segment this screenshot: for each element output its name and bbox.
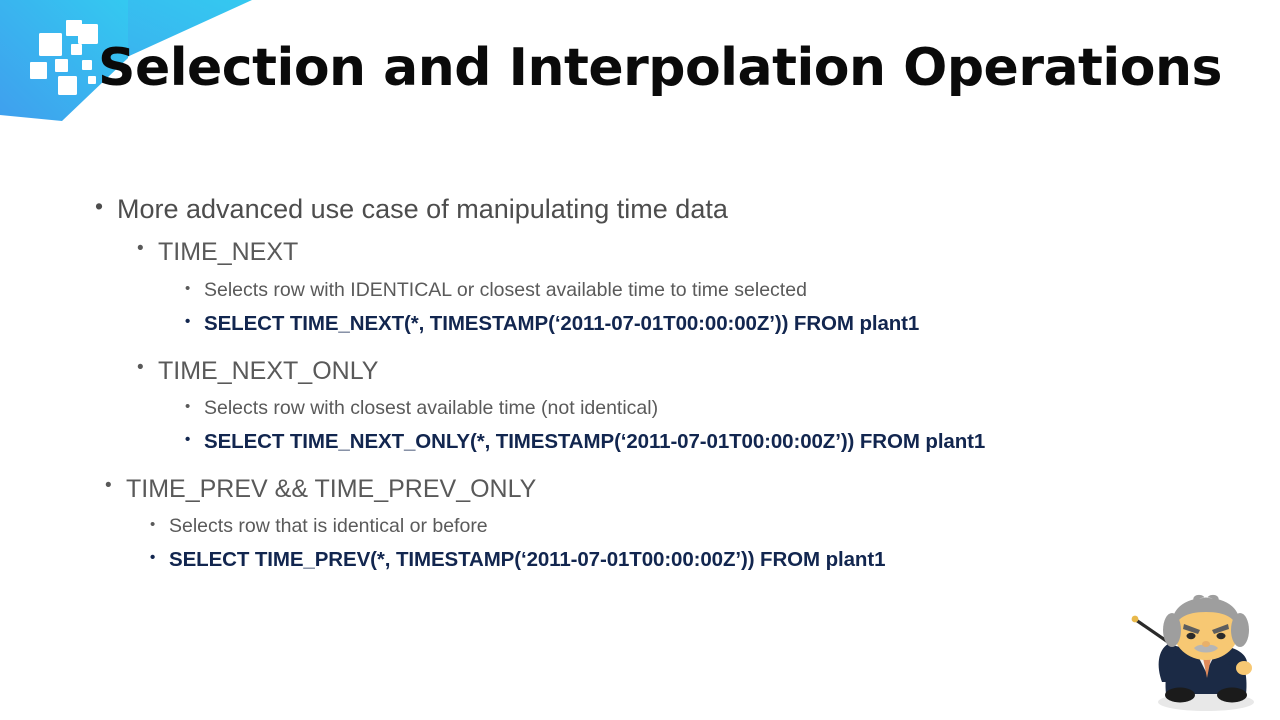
bullet-glyph: • <box>185 276 204 302</box>
sql-statement: SELECT TIME_NEXT(*, TIMESTAMP(‘2011-07-0… <box>204 309 919 339</box>
squares-cluster-logo <box>30 20 98 95</box>
bullet-glyph: • <box>137 234 158 263</box>
group-heading: • TIME_NEXT <box>137 234 1280 270</box>
professor-character-icon <box>1128 594 1278 714</box>
lead-bullet-text: More advanced use case of manipulating t… <box>117 190 728 228</box>
group-heading-text: TIME_NEXT <box>158 234 298 270</box>
list-item-text: Selects row with closest available time … <box>204 394 658 422</box>
lead-bullet: • More advanced use case of manipulating… <box>95 190 1280 228</box>
page-title: Selection and Interpolation Operations <box>98 38 1222 98</box>
bullet-glyph: • <box>150 512 169 538</box>
list-item-text: Selects row that is identical or before <box>169 512 488 540</box>
list-item-sql: • SELECT TIME_NEXT_ONLY(*, TIMESTAMP(‘20… <box>185 427 1280 457</box>
slide: Selection and Interpolation Operations •… <box>0 0 1280 720</box>
group-time-next: • TIME_NEXT • Selects row with IDENTICAL… <box>0 234 1280 338</box>
bullet-glyph: • <box>150 545 169 571</box>
group-time-prev: • TIME_PREV && TIME_PREV_ONLY • Selects … <box>0 471 1280 575</box>
list-item: • Selects row with closest available tim… <box>185 394 1280 422</box>
bullet-glyph: • <box>95 190 117 223</box>
group-time-next-only: • TIME_NEXT_ONLY • Selects row with clos… <box>0 353 1280 457</box>
list-item-text: Selects row with IDENTICAL or closest av… <box>204 276 807 304</box>
slide-body: • More advanced use case of manipulating… <box>0 190 1280 577</box>
bullet-glyph: • <box>185 309 204 335</box>
bullet-glyph: • <box>105 471 126 500</box>
bullet-glyph: • <box>137 353 158 382</box>
list-item: • Selects row with IDENTICAL or closest … <box>185 276 1280 304</box>
sql-statement: SELECT TIME_PREV(*, TIMESTAMP(‘2011-07-0… <box>169 545 885 575</box>
group-heading: • TIME_NEXT_ONLY <box>137 353 1280 389</box>
list-item-sql: • SELECT TIME_PREV(*, TIMESTAMP(‘2011-07… <box>150 545 1280 575</box>
group-heading-text: TIME_PREV && TIME_PREV_ONLY <box>126 471 536 507</box>
list-item-sql: • SELECT TIME_NEXT(*, TIMESTAMP(‘2011-07… <box>185 309 1280 339</box>
group-heading: • TIME_PREV && TIME_PREV_ONLY <box>105 471 1280 507</box>
bullet-glyph: • <box>185 427 204 453</box>
sql-statement: SELECT TIME_NEXT_ONLY(*, TIMESTAMP(‘2011… <box>204 427 985 457</box>
group-heading-text: TIME_NEXT_ONLY <box>158 353 378 389</box>
bullet-glyph: • <box>185 394 204 420</box>
list-item: • Selects row that is identical or befor… <box>150 512 1280 540</box>
